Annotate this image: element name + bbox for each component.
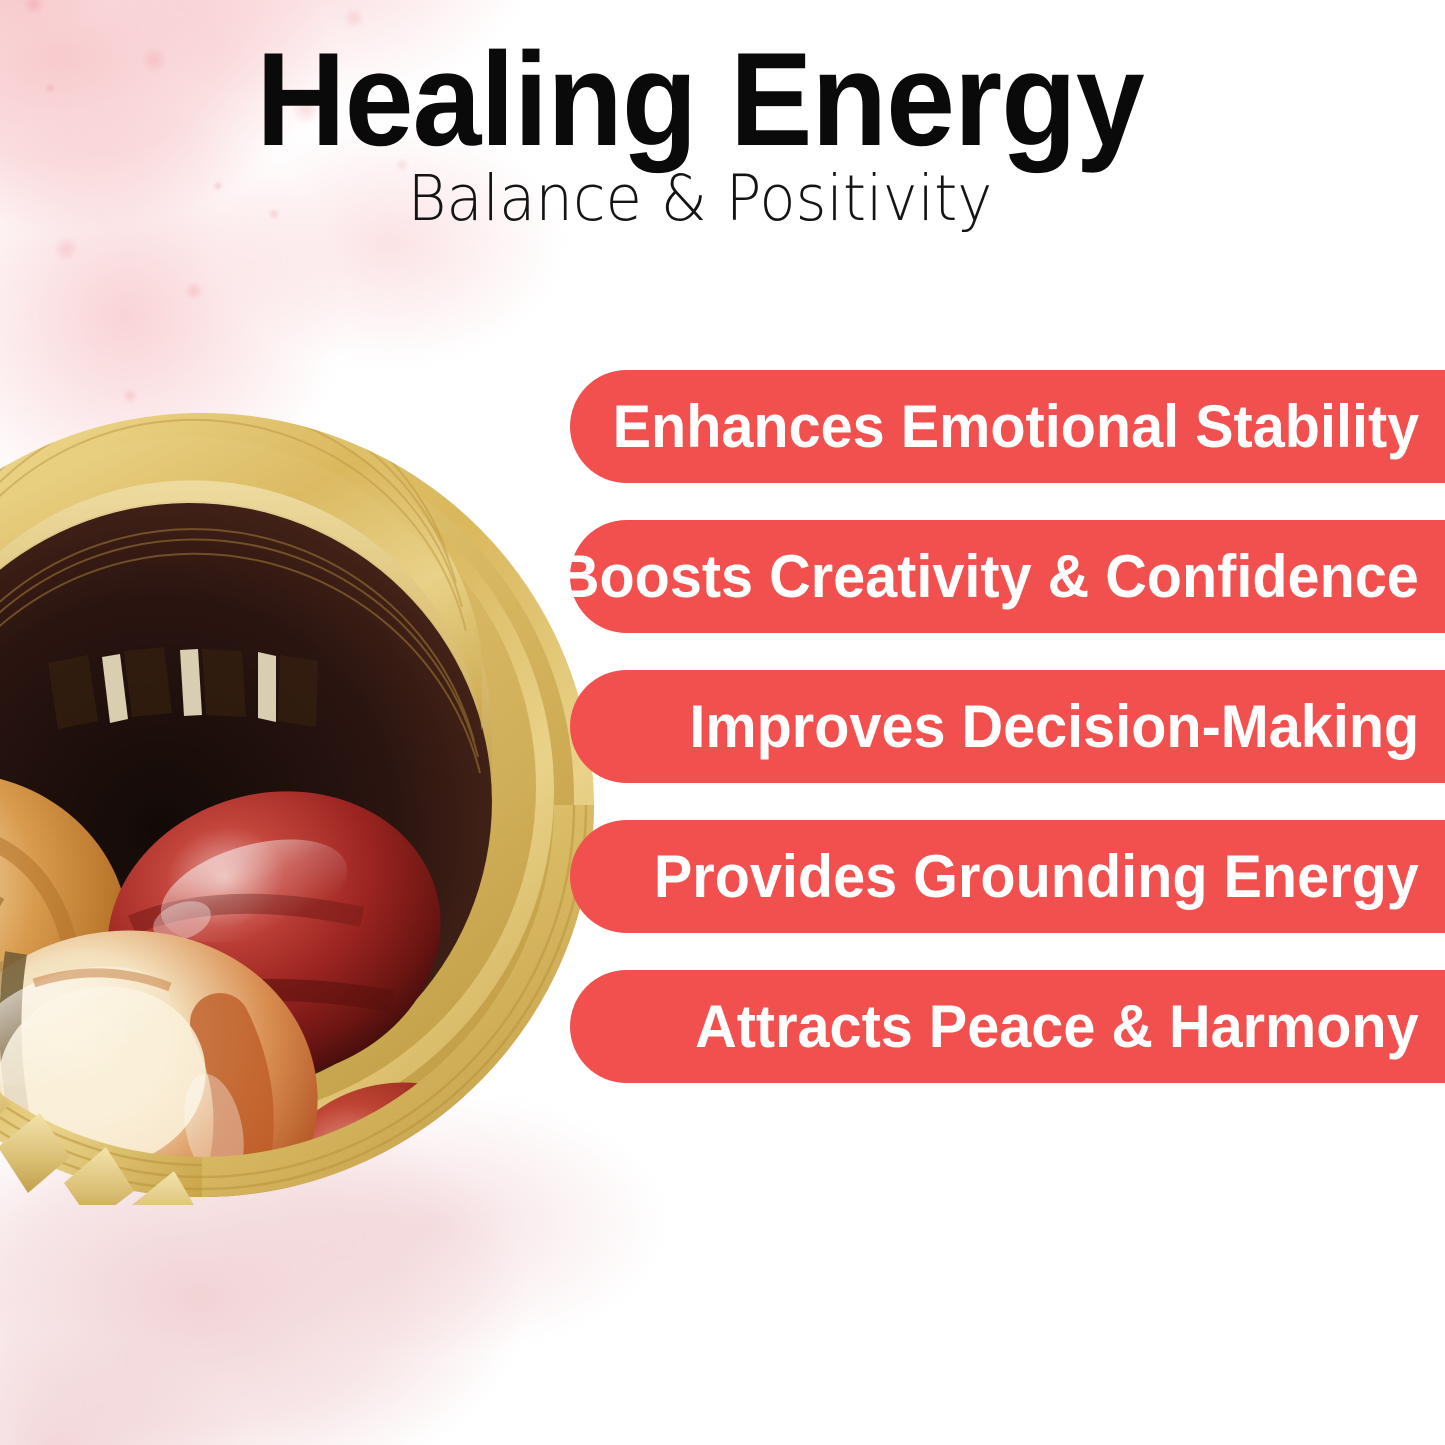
benefit-pill-3: Improves Decision-Making	[570, 670, 1445, 783]
page-subtitle: Balance & Positivity	[42, 167, 1358, 230]
poster-canvas: Healing Energy Balance & Positivity Enha…	[0, 0, 1445, 1445]
benefit-pill-5: Attracts Peace & Harmony	[570, 970, 1445, 1083]
benefit-label: Attracts Peace & Harmony	[696, 997, 1419, 1057]
stones-in-basket-photo	[0, 405, 602, 1205]
benefit-label: Improves Decision-Making	[689, 697, 1419, 757]
benefit-label: Provides Grounding Energy	[654, 847, 1419, 907]
benefit-label: Boosts Creativity & Confidence	[558, 547, 1419, 607]
page-title: Healing Energy	[49, 34, 1351, 167]
benefit-pill-2: Boosts Creativity & Confidence	[570, 520, 1445, 633]
benefits-list: Enhances Emotional Stability Boosts Crea…	[570, 370, 1445, 1083]
benefit-pill-1: Enhances Emotional Stability	[570, 370, 1445, 483]
benefit-label: Enhances Emotional Stability	[612, 397, 1419, 457]
benefit-pill-4: Provides Grounding Energy	[570, 820, 1445, 933]
